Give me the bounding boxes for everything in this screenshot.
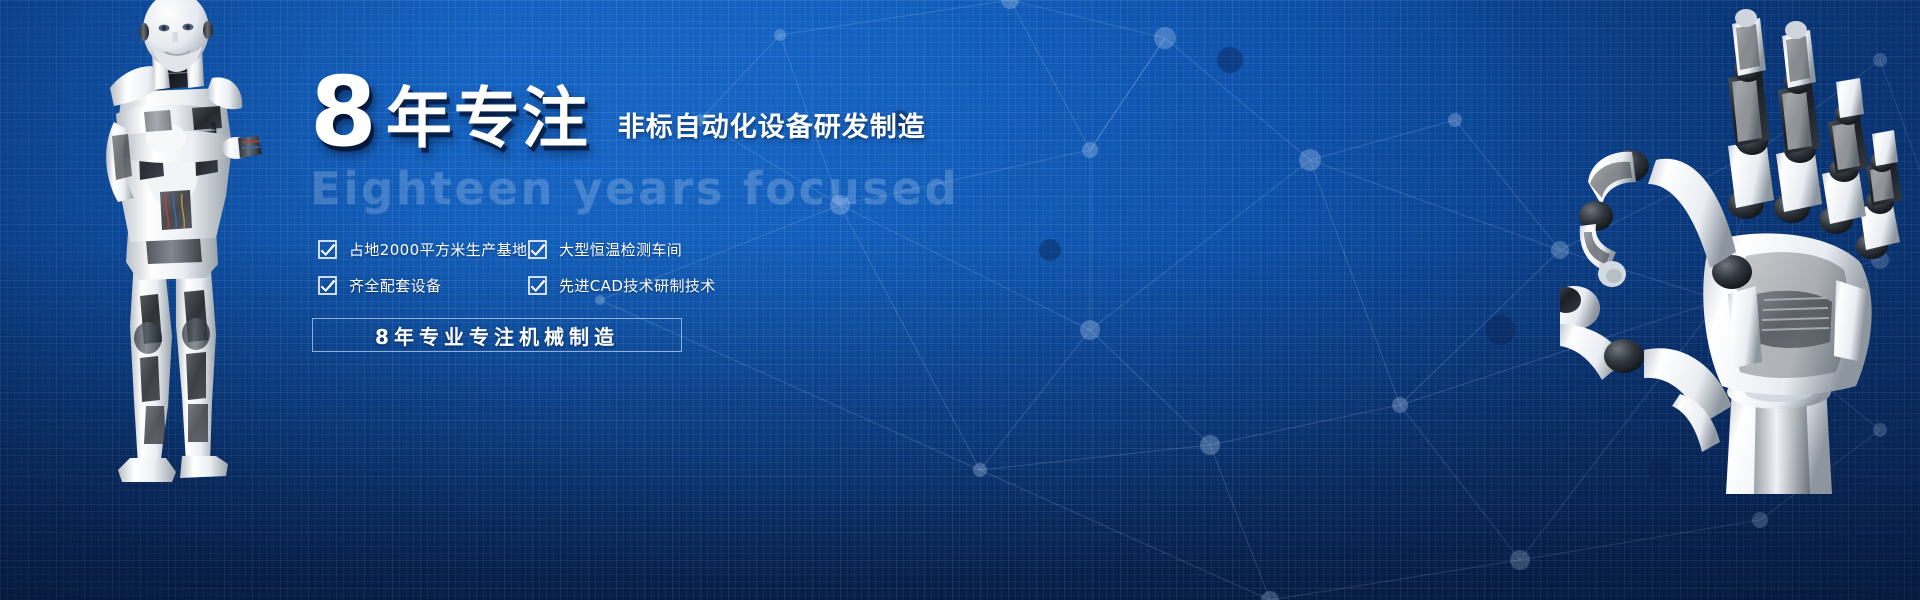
feature-item: 占地2000平方米生产基地: [318, 239, 528, 260]
ghost-tagline: Eighteen years focused: [310, 162, 1210, 215]
hero-banner: 8 年专注 非标自动化设备研发制造 Eighteen years focused…: [0, 0, 1920, 600]
banner-content: 8 年专注 非标自动化设备研发制造 Eighteen years focused…: [310, 72, 1210, 352]
humanoid-android-figure: [60, 0, 290, 486]
check-square-icon: [318, 240, 337, 259]
check-square-icon: [528, 276, 547, 295]
feature-label: 占地2000平方米生产基地: [349, 239, 527, 260]
check-square-icon: [318, 276, 337, 295]
headline-title: 年专注: [386, 86, 590, 156]
headline-subtitle: 非标自动化设备研发制造: [618, 105, 926, 156]
feature-label: 大型恒温检测车间: [559, 239, 682, 260]
years-number: 8: [310, 68, 376, 156]
robotic-hand-figure: [1560, 0, 1920, 494]
feature-item: 大型恒温检测车间: [528, 239, 1210, 260]
check-square-icon: [528, 240, 547, 259]
feature-item: 先进CAD技术研制技术: [528, 275, 1210, 296]
feature-list: 占地2000平方米生产基地 大型恒温检测车间 齐全配套设备 先进CAD技术研制技…: [318, 239, 1210, 296]
slogan-box: 8年专业专注机械制造: [312, 318, 682, 352]
feature-item: 齐全配套设备: [318, 275, 528, 296]
feature-label: 先进CAD技术研制技术: [559, 275, 716, 296]
feature-label: 齐全配套设备: [349, 275, 441, 296]
headline-row: 8 年专注 非标自动化设备研发制造: [310, 72, 1210, 156]
slogan-text: 8年专业专注机械制造: [375, 321, 619, 350]
